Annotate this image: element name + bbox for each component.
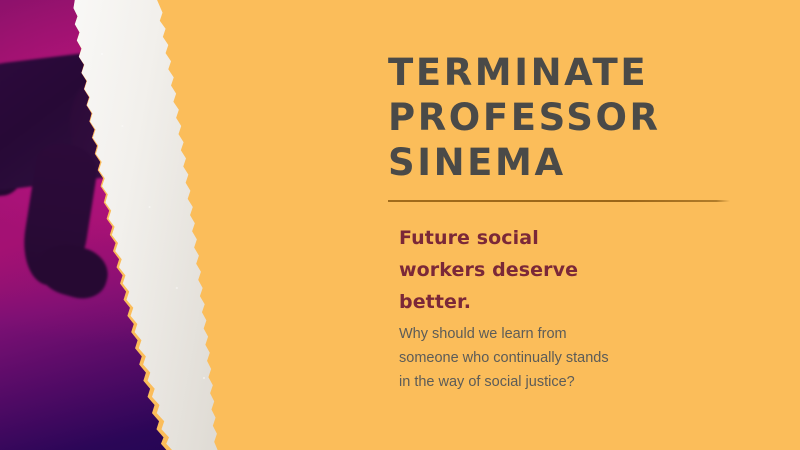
text-content-area: Terminate Professor Sinema Future social…: [388, 0, 768, 450]
horizontal-rule-divider: [388, 200, 730, 202]
body-paragraph: Why should we learn from someone who con…: [399, 322, 614, 394]
thumbs-down-icon: [0, 48, 192, 288]
thumbs-down-photo-panel: [0, 0, 320, 450]
subheading: Future social workers deserve better.: [399, 222, 629, 318]
page-title: Terminate Professor Sinema: [388, 50, 718, 185]
poster-slide: Terminate Professor Sinema Future social…: [0, 0, 800, 450]
hand-knuckle-bump-shape: [99, 120, 150, 169]
